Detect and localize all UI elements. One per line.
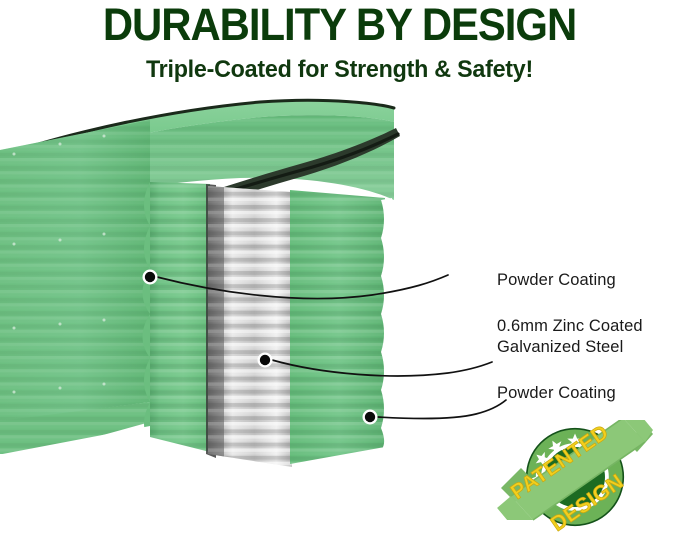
callout-label-galvanized-steel-line2: Galvanized Steel <box>497 337 643 358</box>
callout-label-galvanized-steel: 0.6mm Zinc Coated Galvanized Steel <box>497 316 643 358</box>
callout-label-galvanized-steel-line1: 0.6mm Zinc Coated <box>497 316 643 337</box>
product-feature-graphic: DURABILITY BY DESIGN Triple-Coated for S… <box>0 0 679 534</box>
callout-label-powder-coating-inner: Powder Coating <box>497 383 616 404</box>
page-subtitle: Triple-Coated for Strength & Safety! <box>10 56 669 84</box>
callout-label-powder-coating-outer: Powder Coating <box>497 270 616 291</box>
patented-design-badge: PATENTED DESIGN <box>495 420 655 534</box>
page-title: DURABILITY BY DESIGN <box>24 2 655 48</box>
